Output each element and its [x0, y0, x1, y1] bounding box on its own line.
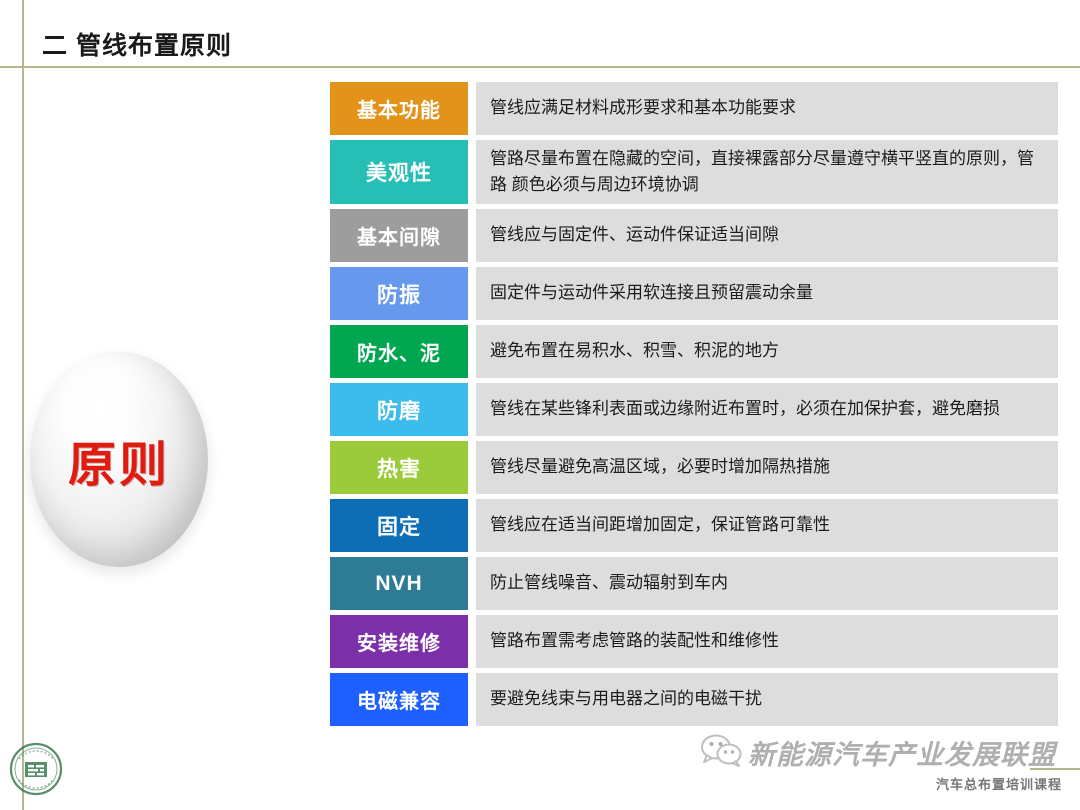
table-row: 防水、泥避免布置在易积水、积雪、积泥的地方 [330, 325, 1058, 378]
table-row: NVH防止管线噪音、震动辐射到车内 [330, 557, 1058, 610]
row-description-cell: 管路布置需考虑管路的装配性和维修性 [476, 615, 1058, 668]
watermark: 新能源汽车产业发展联盟 汽车总布置培训课程 [700, 733, 1070, 803]
watermark-main-text: 新能源汽车产业发展联盟 [748, 733, 1056, 772]
principle-sphere: 原则 [30, 352, 208, 567]
row-label-cell: 美观性 [330, 140, 468, 204]
table-row: 防振固定件与运动件采用软连接且预留震动余量 [330, 267, 1058, 320]
row-label-cell: 安装维修 [330, 615, 468, 668]
wechat-icon [700, 733, 742, 772]
row-label-cell: 防磨 [330, 383, 468, 436]
table-row: 固定管线应在适当间距增加固定，保证管路可靠性 [330, 499, 1058, 552]
row-description-cell: 避免布置在易积水、积雪、积泥的地方 [476, 325, 1058, 378]
row-label-cell: NVH [330, 557, 468, 610]
row-description-cell: 管线尽量避免高温区域，必要时增加隔热措施 [476, 441, 1058, 494]
table-row: 美观性管路尽量布置在隐藏的空间，直接裸露部分尽量遵守横平竖直的原则，管路 颜色必… [330, 140, 1058, 204]
row-description-cell: 管路尽量布置在隐藏的空间，直接裸露部分尽量遵守横平竖直的原则，管路 颜色必须与周… [476, 140, 1058, 204]
row-description-cell: 管线应满足材料成形要求和基本功能要求 [476, 82, 1058, 135]
watermark-sub-text: 汽车总布置培训课程 [700, 774, 1070, 793]
row-label-cell: 电磁兼容 [330, 673, 468, 726]
table-row: 电磁兼容要避免线束与用电器之间的电磁干扰 [330, 673, 1058, 726]
table-row: 防磨管线在某些锋利表面或边缘附近布置时，必须在加保护套，避免磨损 [330, 383, 1058, 436]
table-row: 热害管线尽量避免高温区域，必要时增加隔热措施 [330, 441, 1058, 494]
row-label-cell: 基本功能 [330, 82, 468, 135]
row-description-cell: 要避免线束与用电器之间的电磁干扰 [476, 673, 1058, 726]
table-row: 基本功能管线应满足材料成形要求和基本功能要求 [330, 82, 1058, 135]
company-seal-icon [9, 742, 63, 796]
principles-table: 基本功能管线应满足材料成形要求和基本功能要求美观性管路尽量布置在隐藏的空间，直接… [330, 82, 1058, 731]
row-description-cell: 管线应与固定件、运动件保证适当间隙 [476, 209, 1058, 262]
row-label-cell: 防振 [330, 267, 468, 320]
watermark-main-row: 新能源汽车产业发展联盟 [700, 733, 1070, 772]
frame-vertical-line [22, 0, 24, 810]
table-row: 基本间隙管线应与固定件、运动件保证适当间隙 [330, 209, 1058, 262]
frame-horizontal-line [0, 66, 1080, 68]
row-description-cell: 管线在某些锋利表面或边缘附近布置时，必须在加保护套，避免磨损 [476, 383, 1058, 436]
row-description-cell: 固定件与运动件采用软连接且预留震动余量 [476, 267, 1058, 320]
row-description-cell: 防止管线噪音、震动辐射到车内 [476, 557, 1058, 610]
principle-sphere-label: 原则 [68, 425, 170, 495]
row-label-cell: 固定 [330, 499, 468, 552]
frame-bottom-right-line [1030, 768, 1080, 770]
row-label-cell: 热害 [330, 441, 468, 494]
row-label-cell: 基本间隙 [330, 209, 468, 262]
page-title: 二 管线布置原则 [42, 26, 232, 62]
row-description-cell: 管线应在适当间距增加固定，保证管路可靠性 [476, 499, 1058, 552]
row-label-cell: 防水、泥 [330, 325, 468, 378]
table-row: 安装维修管路布置需考虑管路的装配性和维修性 [330, 615, 1058, 668]
